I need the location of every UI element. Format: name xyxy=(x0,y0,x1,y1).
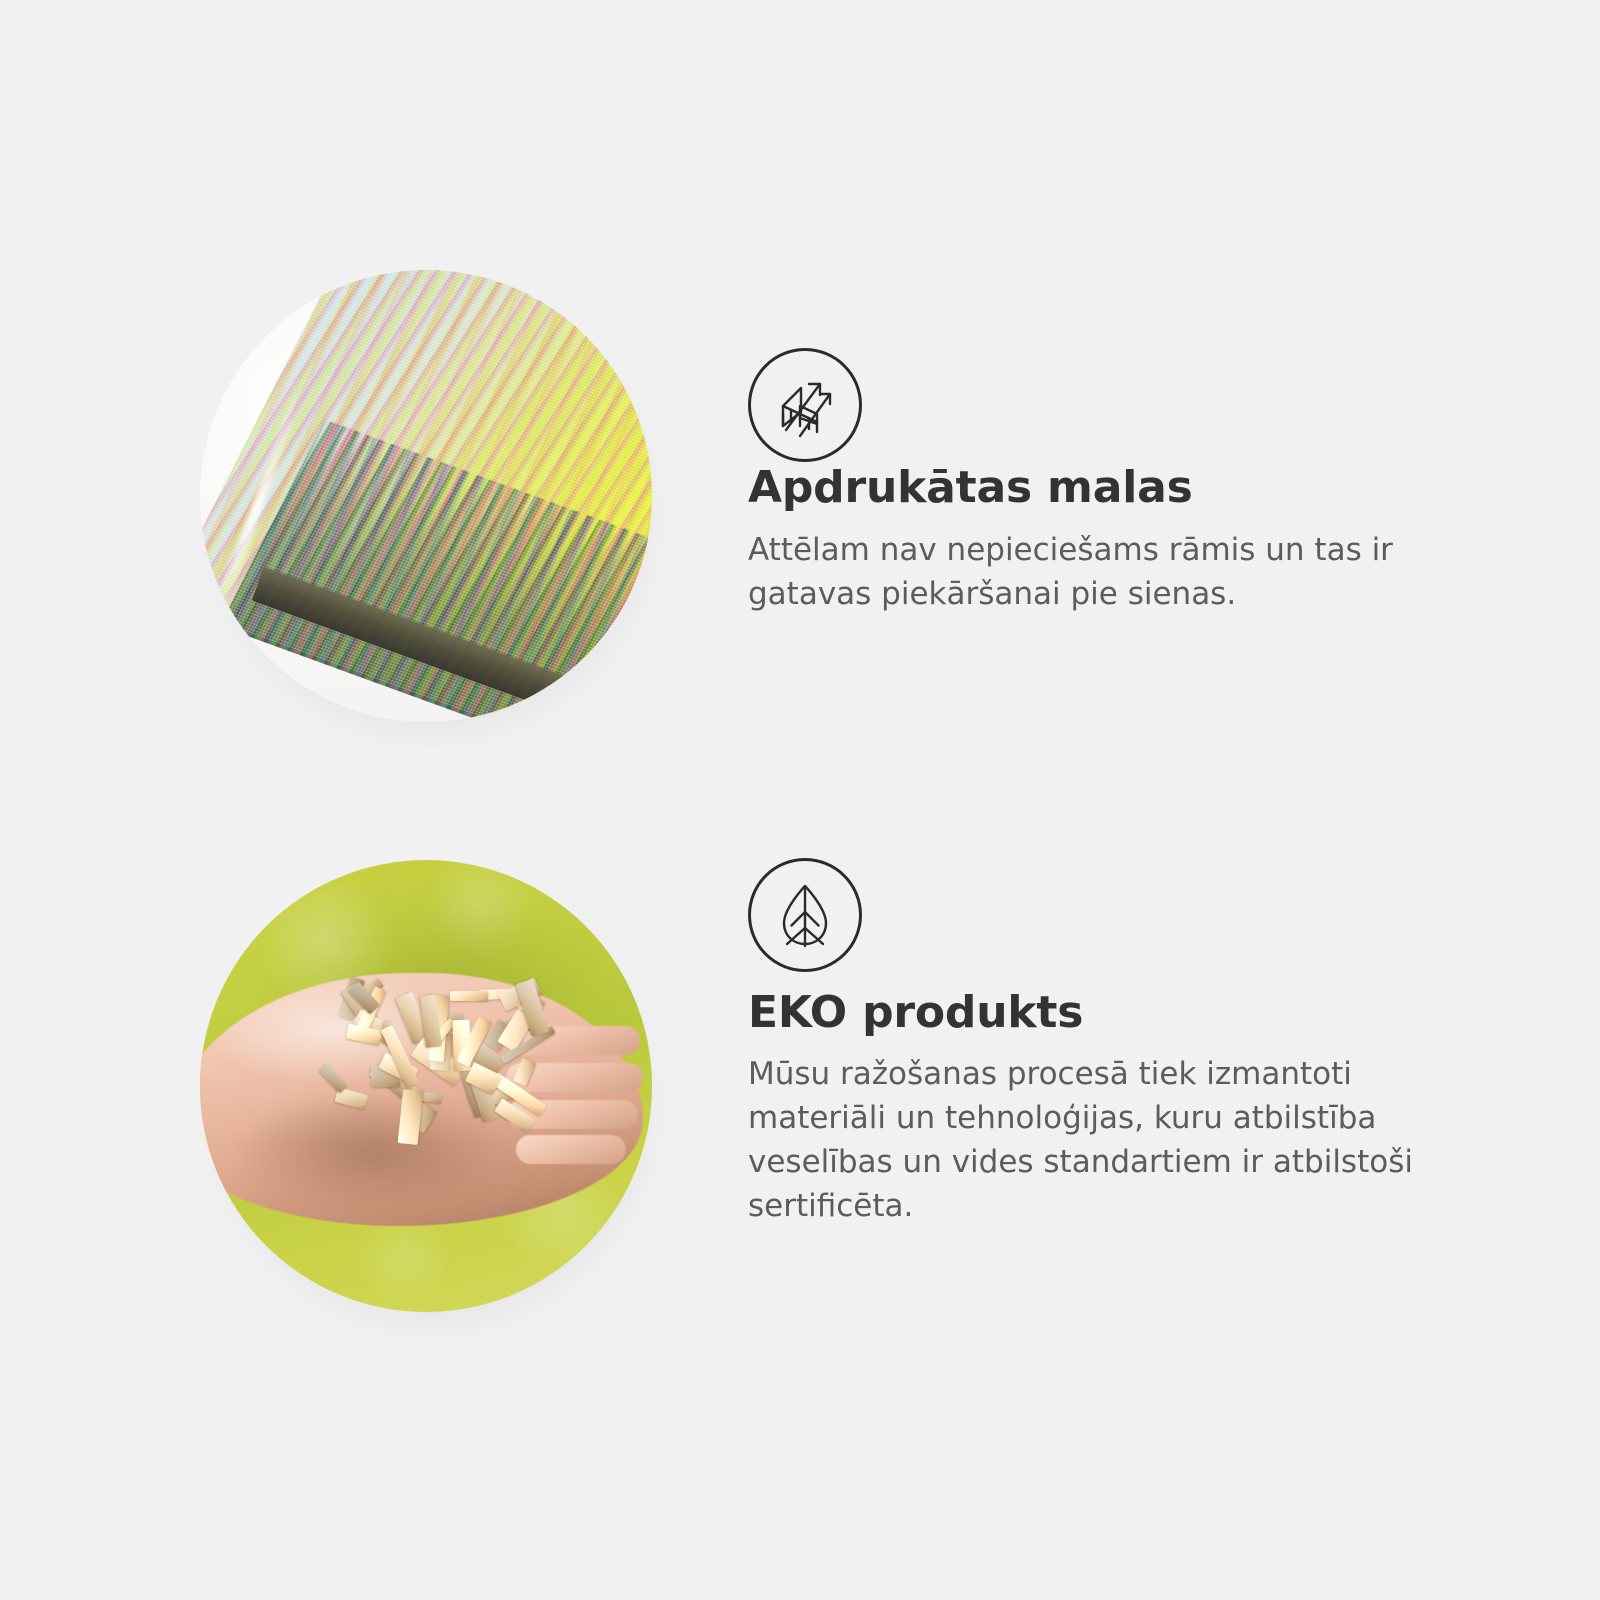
wood-chip xyxy=(450,991,488,1001)
wood-chip xyxy=(513,1058,536,1087)
feature-body-printed-edges: Attēlam nav nepieciešams rāmis un tas ir… xyxy=(748,528,1468,616)
feature-title-eco-product: EKO produkts xyxy=(748,988,1083,1039)
canvas-wrap-arrows-icon xyxy=(748,348,862,462)
feature-title-printed-edges: Apdrukātas malas xyxy=(748,463,1193,514)
feature-image-eco-product xyxy=(200,860,652,1312)
wood-chips-pile xyxy=(318,982,571,1145)
feature-image-printed-edges xyxy=(200,270,652,722)
leaf-icon xyxy=(748,858,862,972)
circular-image-mask xyxy=(200,270,652,722)
wood-chip xyxy=(398,1089,423,1145)
canvas-corner-photo xyxy=(200,270,652,722)
feature-body-eco-product: Mūsu ražošanas procesā tiek izmantoti ma… xyxy=(748,1052,1468,1228)
circular-image-mask xyxy=(200,860,652,1312)
wood-chips-in-hands-photo xyxy=(200,860,652,1312)
wood-chip xyxy=(319,1063,348,1093)
feature-highlights-page: Apdrukātas malas Attēlam nav nepieciešam… xyxy=(0,0,1600,1600)
